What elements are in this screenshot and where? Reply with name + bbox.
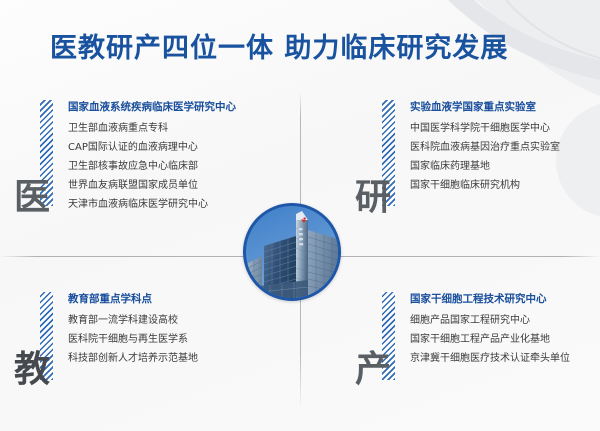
watermark-production: 产 [355, 352, 391, 388]
list-item: 医科院血液病基因治疗重点实验室 [410, 138, 597, 157]
quadrant-medical: 国家血液系统疾病临床医学研究中心 卫生部血液病重点专科 CAP国际认证的血液病理… [40, 100, 290, 214]
quadrant-education-heading: 教育部重点学科点 [68, 292, 290, 306]
list-item: 国家干细胞工程产品产业化基地 [410, 330, 597, 349]
quadrant-research: 实验血液学国家重点实验室 中国医学科学院干细胞医学中心 医科院血液病基因治疗重点… [382, 100, 597, 195]
infographic-canvas: 医教研产四位一体 助力临床研究发展 国家血液系统疾病临床医学研究中心 卫生部血液… [0, 0, 600, 431]
list-item: 中国医学科学院干细胞医学中心 [410, 119, 597, 138]
list-item: 医科院干细胞与再生医学系 [68, 330, 290, 349]
quadrant-education-list: 教育部一流学科建设高校 医科院干细胞与再生医学系 科技部创新人才培养示范基地 [68, 311, 290, 368]
quadrant-medical-heading: 国家血液系统疾病临床医学研究中心 [68, 100, 290, 114]
quadrant-medical-body: 国家血液系统疾病临床医学研究中心 卫生部血液病重点专科 CAP国际认证的血液病理… [68, 100, 290, 214]
list-item: 世界血友病联盟国家成员单位 [68, 176, 290, 195]
list-item: 天津市血液病临床医学研究中心 [68, 195, 290, 214]
list-item: 教育部一流学科建设高校 [68, 311, 290, 330]
watermark-education: 教 [14, 352, 50, 388]
quadrant-medical-list: 卫生部血液病重点专科 CAP国际认证的血液病理中心 卫生部核事故应急中心临床部 … [68, 119, 290, 214]
list-item: 京津冀干细胞医疗技术认证牵头单位 [410, 349, 597, 368]
quadrant-research-list: 中国医学科学院干细胞医学中心 医科院血液病基因治疗重点实验室 国家临床药理基地 … [410, 119, 597, 195]
watermark-medical: 医 [14, 180, 50, 216]
quadrant-education-body: 教育部重点学科点 教育部一流学科建设高校 医科院干细胞与再生医学系 科技部创新人… [68, 292, 290, 368]
quadrant-production-list: 细胞产品国家工程研究中心 国家干细胞工程产品产业化基地 京津冀干细胞医疗技术认证… [410, 311, 597, 368]
quadrant-education: 教育部重点学科点 教育部一流学科建设高校 医科院干细胞与再生医学系 科技部创新人… [40, 292, 290, 368]
list-item: 卫生部核事故应急中心临床部 [68, 157, 290, 176]
page-title: 医教研产四位一体 助力临床研究发展 [50, 26, 508, 65]
watermark-research: 研 [355, 180, 391, 216]
list-item: 科技部创新人才培养示范基地 [68, 349, 290, 368]
list-item: CAP国际认证的血液病理中心 [68, 138, 290, 157]
list-item: 国家临床药理基地 [410, 157, 597, 176]
quadrant-production: 国家干细胞工程技术研究中心 细胞产品国家工程研究中心 国家干细胞工程产品产业化基… [382, 292, 597, 368]
center-building-photo [243, 203, 341, 301]
list-item: 卫生部血液病重点专科 [68, 119, 290, 138]
quadrant-production-body: 国家干细胞工程技术研究中心 细胞产品国家工程研究中心 国家干细胞工程产品产业化基… [410, 292, 597, 368]
quadrant-research-body: 实验血液学国家重点实验室 中国医学科学院干细胞医学中心 医科院血液病基因治疗重点… [410, 100, 597, 195]
quadrant-research-heading: 实验血液学国家重点实验室 [410, 100, 597, 114]
list-item: 国家干细胞临床研究机构 [410, 176, 597, 195]
list-item: 细胞产品国家工程研究中心 [410, 311, 597, 330]
quadrant-production-heading: 国家干细胞工程技术研究中心 [410, 292, 597, 306]
